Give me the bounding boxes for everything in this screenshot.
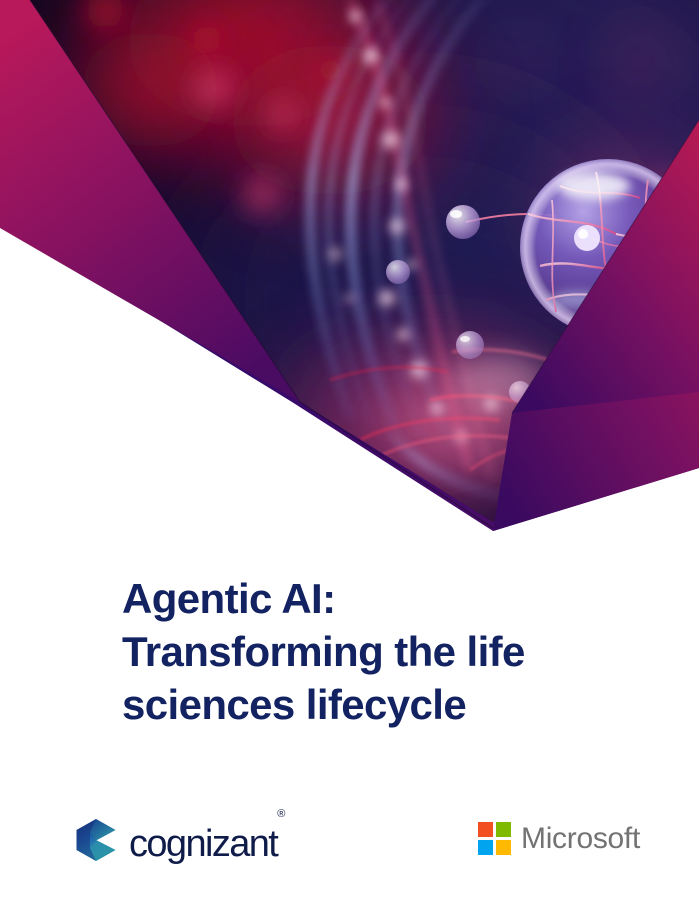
cognizant-hexagon-icon [72, 816, 120, 869]
small-sphere-2 [386, 260, 410, 284]
cognizant-wordmark: cognizant [129, 825, 277, 863]
microsoft-wordmark: Microsoft [521, 824, 640, 854]
microsoft-square-green [496, 822, 511, 837]
title-block: Agentic AI: Transforming the life scienc… [122, 572, 592, 731]
cover-page: Agentic AI: Transforming the life scienc… [0, 0, 699, 905]
page-title: Agentic AI: Transforming the life scienc… [122, 572, 592, 731]
microsoft-square-red [478, 822, 493, 837]
small-sphere-3 [456, 331, 484, 359]
microsoft-logo[interactable]: Microsoft [478, 822, 640, 855]
logo-bar: cognizant ® Microsoft [0, 812, 699, 882]
microsoft-square-yellow [496, 840, 511, 855]
microsoft-squares-icon [478, 822, 511, 855]
cognizant-trademark: ® [277, 808, 285, 820]
cognizant-logo[interactable]: cognizant ® [72, 816, 285, 869]
hero-banner [0, 0, 699, 540]
small-sphere [446, 205, 480, 239]
microsoft-square-blue [478, 840, 493, 855]
